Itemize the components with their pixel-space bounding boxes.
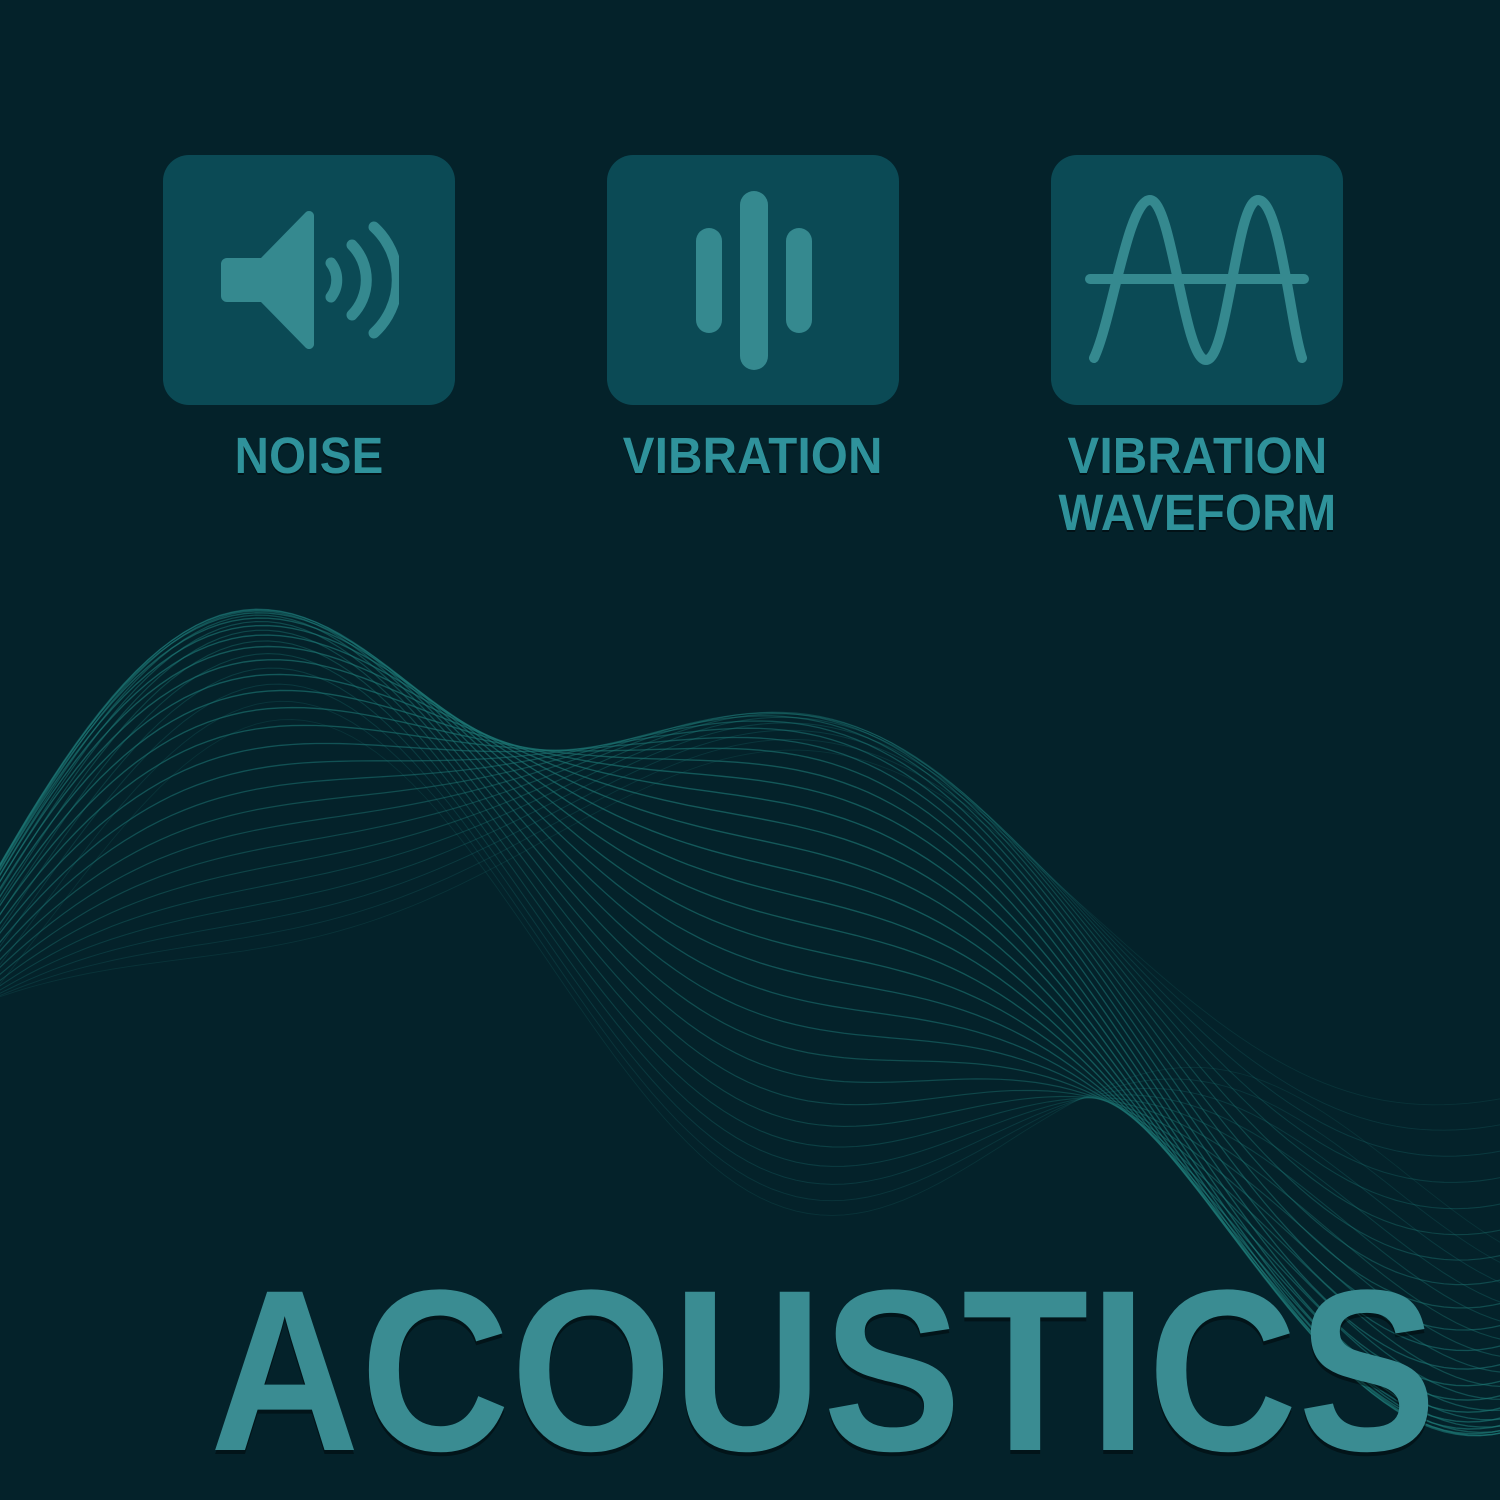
icon-card-vibration[interactable]: VIBRATION — [607, 155, 899, 484]
measurement-icon-row: NOISE VIBRATION VIBRATION WAVEFORM — [0, 155, 1500, 541]
wave-line — [0, 713, 1500, 1285]
wave-line — [0, 714, 1500, 1235]
icon-label-vibration: VIBRATION — [623, 427, 883, 484]
icon-tile-vibration-waveform[interactable] — [1051, 155, 1343, 405]
icon-tile-noise[interactable] — [163, 155, 455, 405]
vibration-bars-icon — [688, 188, 818, 373]
wave-line — [0, 740, 1500, 1131]
wave-line — [0, 723, 1500, 1183]
icon-label-noise: NOISE — [234, 427, 383, 484]
sine-waveform-icon — [1084, 190, 1310, 370]
speaker-sound-icon — [219, 205, 399, 355]
wave-line — [0, 641, 1500, 1342]
icon-card-vibration-waveform[interactable]: VIBRATION WAVEFORM — [1051, 155, 1343, 541]
wave-line — [0, 750, 1500, 1105]
wave-line — [0, 701, 1500, 1270]
wave-line — [0, 721, 1500, 1330]
wave-line — [0, 730, 1500, 1156]
icon-tile-vibration[interactable] — [607, 155, 899, 405]
acoustics-poster: NOISE VIBRATION VIBRATION WAVEFORM — [0, 0, 1500, 1500]
wave-line — [0, 720, 1500, 1252]
wave-line — [0, 684, 1500, 1289]
icon-card-noise[interactable]: NOISE — [163, 155, 455, 484]
page-title: ACOUSTICS — [210, 1264, 1437, 1478]
wave-line — [0, 712, 1500, 1260]
wave-line — [0, 668, 1500, 1307]
wave-line — [0, 717, 1500, 1208]
wave-line — [0, 654, 1500, 1326]
icon-label-vibration-waveform: VIBRATION WAVEFORM — [1058, 427, 1336, 541]
wave-line — [0, 716, 1500, 1308]
